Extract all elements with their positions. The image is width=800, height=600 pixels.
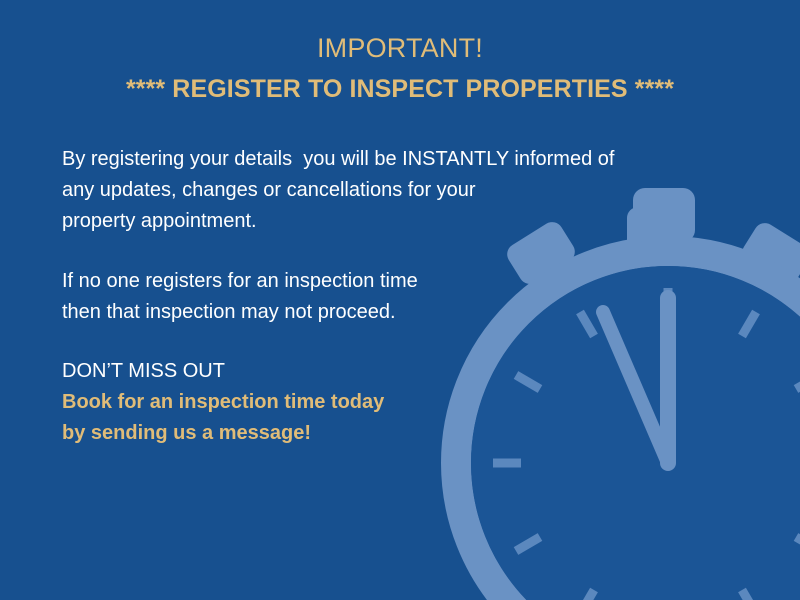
cta-book-inspection: Book for an inspection time today: [62, 387, 712, 418]
slide-content: IMPORTANT! **** REGISTER TO INSPECT PROP…: [0, 0, 800, 600]
paragraph-registering-line-1: By registering your details you will be …: [62, 144, 712, 175]
call-to-action-block: DON’T MISS OUT Book for an inspection ti…: [62, 356, 712, 449]
promotional-slide: IMPORTANT! **** REGISTER TO INSPECT PROP…: [0, 0, 800, 600]
paragraph-registering: By registering your details you will be …: [62, 144, 712, 237]
cta-dont-miss-out: DON’T MISS OUT: [62, 356, 712, 387]
body-block: By registering your details you will be …: [62, 144, 712, 449]
headline-register: **** REGISTER TO INSPECT PROPERTIES ****: [0, 72, 800, 106]
paragraph-spacer-2: [62, 328, 712, 356]
headline-block: IMPORTANT! **** REGISTER TO INSPECT PROP…: [0, 30, 800, 106]
headline-important: IMPORTANT!: [0, 30, 800, 66]
paragraph-registering-line-2: any updates, changes or cancellations fo…: [62, 175, 712, 206]
paragraph-no-registration-line-2: then that inspection may not proceed.: [62, 297, 712, 328]
paragraph-registering-line-3: property appointment.: [62, 206, 712, 237]
cta-send-message: by sending us a message!: [62, 418, 712, 449]
paragraph-no-registration: If no one registers for an inspection ti…: [62, 266, 712, 328]
paragraph-spacer-1: [62, 237, 712, 266]
paragraph-no-registration-line-1: If no one registers for an inspection ti…: [62, 266, 712, 297]
